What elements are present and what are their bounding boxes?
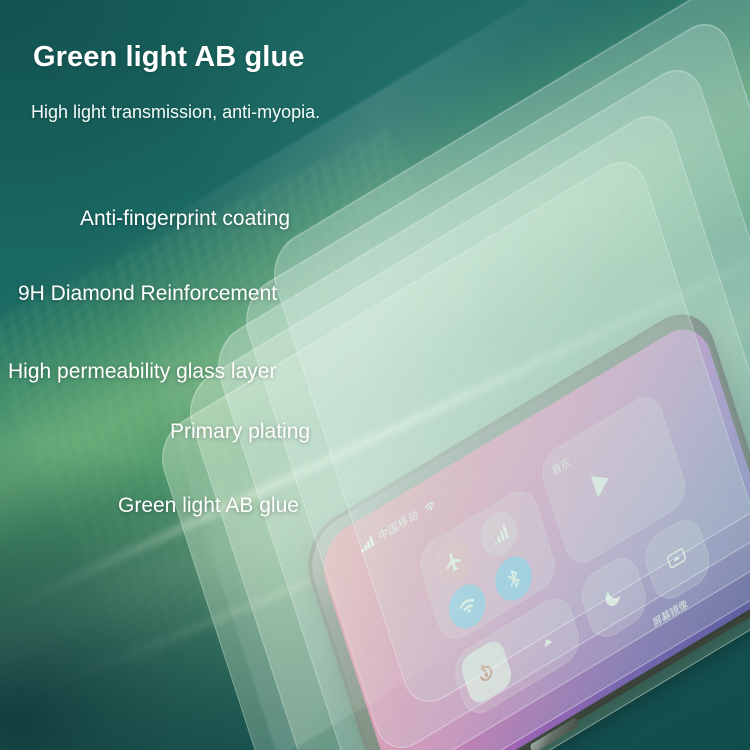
feature-label-green-light-glue: Green light AB glue <box>118 494 299 518</box>
feature-label-high-permeability: High permeability glass layer <box>8 360 276 384</box>
feature-label-anti-fingerprint: Anti-fingerprint coating <box>80 207 290 231</box>
page-title: Green light AB glue <box>33 41 305 74</box>
page-subtitle: High light transmission, anti-myopia. <box>31 102 320 123</box>
feature-label-primary-plating: Primary plating <box>170 420 310 444</box>
product-banner: 中国移动 <box>0 0 750 750</box>
feature-label-9h-diamond: 9H Diamond Reinforcement <box>18 282 277 306</box>
